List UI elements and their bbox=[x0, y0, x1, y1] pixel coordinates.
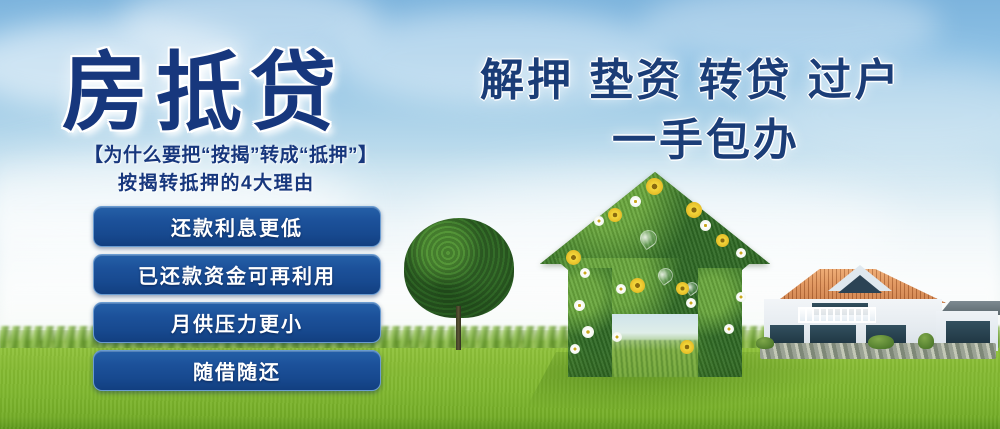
flower-yellow bbox=[716, 234, 729, 247]
reason-button-3-label: 月供压力更小 bbox=[171, 308, 303, 337]
villa-balcony bbox=[798, 307, 876, 323]
grass-wall-left bbox=[568, 268, 612, 377]
villa-photo bbox=[750, 255, 1000, 365]
headline-services: 解押 垫资 转贷 过户 bbox=[480, 44, 902, 108]
flower-white bbox=[736, 248, 746, 258]
grass-wall-right bbox=[698, 268, 742, 377]
tree-trunk bbox=[456, 306, 461, 350]
flower-yellow bbox=[566, 250, 581, 265]
flower-yellow bbox=[686, 202, 702, 218]
garden-shrub bbox=[868, 335, 894, 349]
flower-white bbox=[570, 344, 580, 354]
flower-white bbox=[612, 332, 622, 342]
reason-button-1[interactable]: 还款利息更低 bbox=[93, 206, 381, 247]
reason-button-2[interactable]: 已还款资金可再利用 bbox=[93, 254, 381, 295]
flower-white bbox=[736, 292, 746, 302]
flower-white bbox=[580, 268, 590, 278]
garden-shrub bbox=[918, 333, 934, 349]
reason-button-4[interactable]: 随借随还 bbox=[93, 350, 381, 391]
subtitle-question: 【为什么要把“按揭”转成“抵押”】 bbox=[84, 140, 378, 167]
flower-white bbox=[686, 298, 696, 308]
flower-white bbox=[700, 220, 711, 231]
reason-button-1-label: 还款利息更低 bbox=[171, 212, 303, 241]
reason-button-3[interactable]: 月供压力更小 bbox=[93, 302, 381, 343]
villa-gable-window bbox=[838, 275, 882, 293]
flower-white bbox=[724, 324, 734, 334]
tree-illustration bbox=[404, 218, 514, 348]
flower-white bbox=[616, 284, 626, 294]
headline-one-stop: 一手包办 bbox=[612, 104, 800, 168]
reason-button-4-label: 随借随还 bbox=[193, 356, 281, 385]
flower-yellow bbox=[608, 208, 622, 222]
flower-yellow bbox=[676, 282, 689, 295]
flower-yellow bbox=[630, 278, 645, 293]
grass-house-walls bbox=[568, 268, 742, 377]
tree-canopy bbox=[404, 218, 514, 318]
reason-button-2-label: 已还款资金可再利用 bbox=[138, 260, 336, 289]
flower-white bbox=[574, 300, 585, 311]
flower-white bbox=[630, 196, 641, 207]
page-title: 房抵贷 bbox=[62, 22, 344, 147]
reasons-button-list: 还款利息更低 已还款资金可再利用 月供压力更小 随借随还 bbox=[93, 206, 381, 398]
flower-yellow bbox=[646, 178, 663, 195]
grass-house-illustration bbox=[540, 172, 770, 377]
flower-yellow bbox=[680, 340, 694, 354]
flower-white bbox=[582, 326, 594, 338]
promotional-banner: 房抵贷 【为什么要把“按揭”转成“抵押”】 按揭转抵押的4大理由 解押 垫资 转… bbox=[0, 0, 1000, 429]
subtitle-reasons-count: 按揭转抵押的4大理由 bbox=[118, 168, 315, 195]
flower-white bbox=[594, 216, 604, 226]
